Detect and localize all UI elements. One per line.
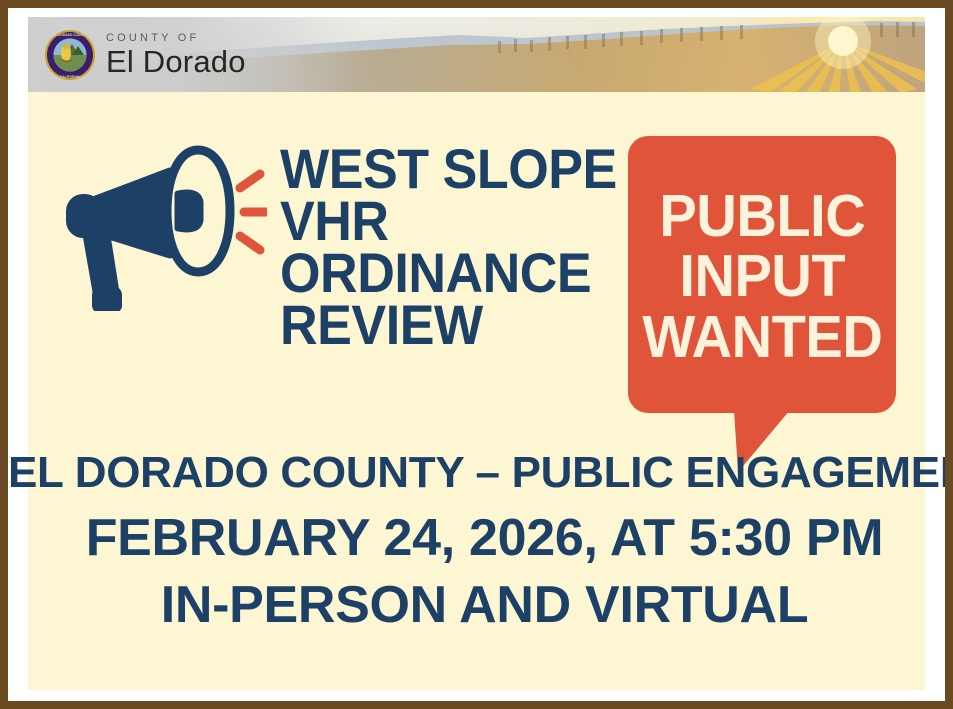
header-banner: EL DORADO COUNTY CALIFORNIA COUNTY OF El… <box>28 17 925 92</box>
event-format: IN-PERSON AND VIRTUAL <box>8 575 953 635</box>
event-datetime: FEBRUARY 24, 2026, AT 5:30 PM <box>8 508 953 568</box>
megaphone-icon <box>52 136 267 311</box>
headline-line-1: WEST SLOPE <box>280 143 596 195</box>
headline-line-3: ORDINANCE <box>280 247 596 299</box>
public-input-callout: PUBLIC INPUT WANTED <box>628 136 896 471</box>
headline: WEST SLOPE VHR ORDINANCE REVIEW <box>280 143 596 351</box>
callout-body: PUBLIC INPUT WANTED <box>628 136 896 413</box>
svg-text:EL DORADO COUNTY: EL DORADO COUNTY <box>53 33 87 37</box>
callout-line-1: PUBLIC <box>659 186 865 246</box>
sound-wave-lines <box>240 174 266 250</box>
callout-line-2: INPUT <box>679 246 845 306</box>
county-of-label: COUNTY OF <box>106 32 199 44</box>
callout-line-3: WANTED <box>642 307 882 367</box>
el-dorado-county-seal-icon: EL DORADO COUNTY CALIFORNIA <box>44 29 96 81</box>
event-subtitle: EL DORADO COUNTY – PUBLIC ENGAGEMENT <box>8 448 953 498</box>
headline-line-4: REVIEW <box>280 299 596 351</box>
svg-text:CALIFORNIA: CALIFORNIA <box>60 75 80 79</box>
poster-flyer: EL DORADO COUNTY CALIFORNIA COUNTY OF El… <box>0 0 953 709</box>
county-name-label: El Dorado <box>106 46 246 77</box>
headline-line-2: VHR <box>280 195 596 247</box>
